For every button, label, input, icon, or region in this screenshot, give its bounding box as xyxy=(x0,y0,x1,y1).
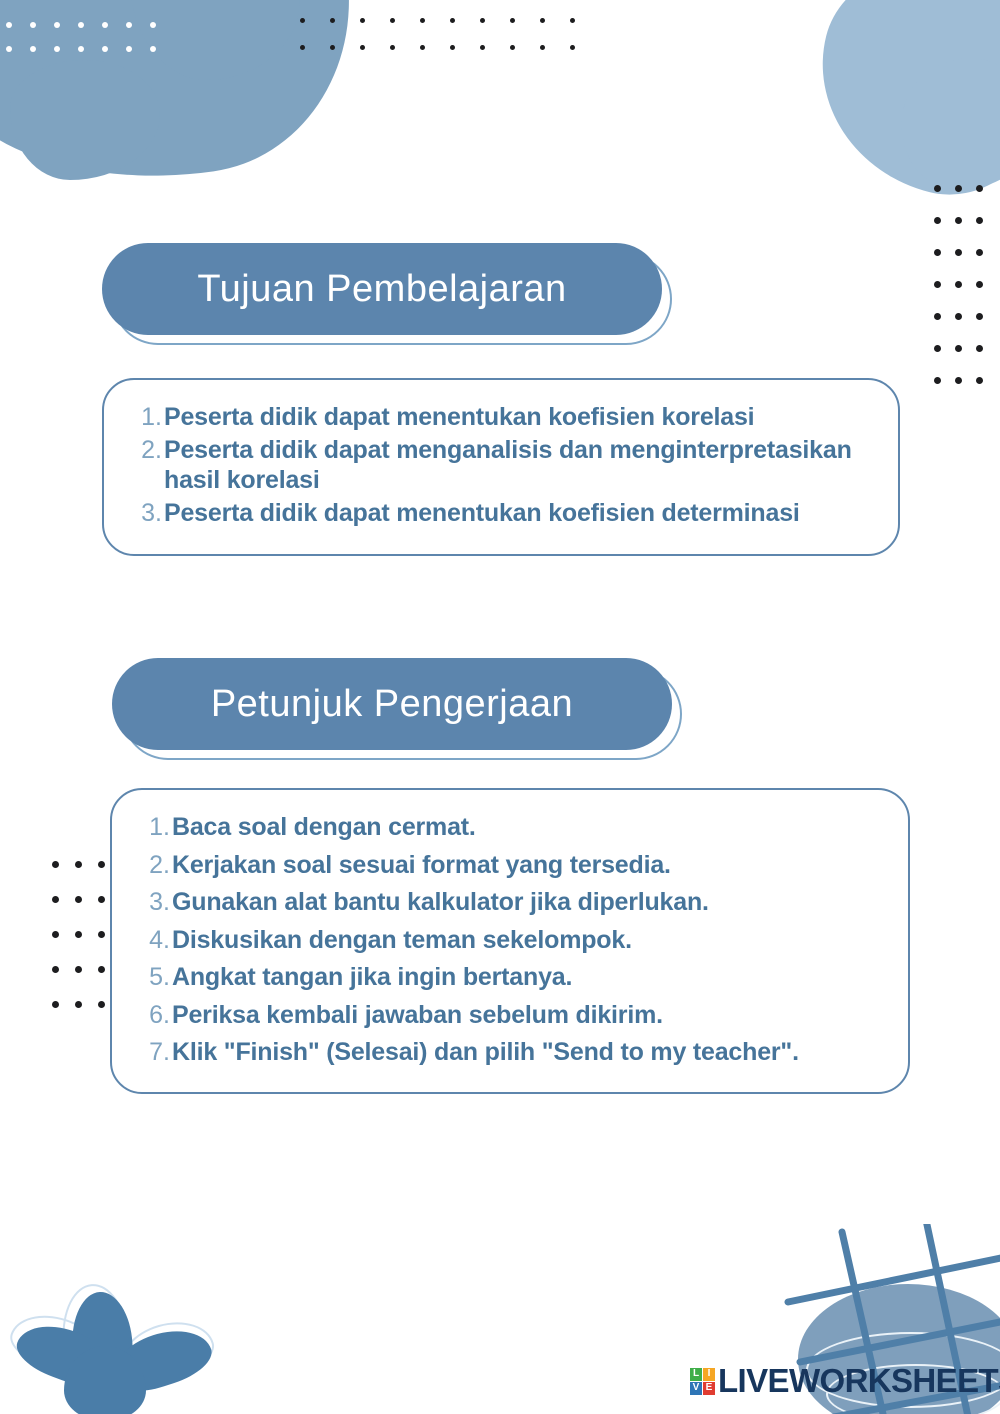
dot xyxy=(390,45,395,50)
dot xyxy=(75,966,82,973)
dot xyxy=(934,281,941,288)
list-item-label: Angkat tangan jika ingin bertanya. xyxy=(172,962,572,993)
dot xyxy=(102,46,108,52)
dot xyxy=(126,46,132,52)
dot xyxy=(570,18,575,23)
blob-top-right-icon xyxy=(796,0,1000,214)
blob-top-left-tertiary-icon xyxy=(10,60,160,180)
dot xyxy=(98,931,105,938)
list-item-label: Klik "Finish" (Selesai) dan pilih "Send … xyxy=(172,1037,799,1068)
list-item-label: Peserta didik dapat menganalisis dan men… xyxy=(164,435,868,496)
list-item-label: Gunakan alat bantu kalkulator jika diper… xyxy=(172,887,709,918)
dot xyxy=(52,966,59,973)
list-item: 2. Peserta didik dapat menganalisis dan … xyxy=(134,435,868,496)
dot xyxy=(934,185,941,192)
dot xyxy=(510,18,515,23)
list-item: 3. Peserta didik dapat menentukan koefis… xyxy=(134,498,868,529)
dot xyxy=(360,45,365,50)
list-item: 1. Peserta didik dapat menentukan koefis… xyxy=(134,402,868,433)
logo-tile-l: L xyxy=(690,1368,702,1381)
dot xyxy=(6,46,12,52)
list-item: 2. Kerjakan soal sesuai format yang ters… xyxy=(142,850,878,881)
logo-wordmark: LIVEWORKSHEETS xyxy=(718,1362,1000,1400)
dot xyxy=(52,896,59,903)
dot xyxy=(54,22,60,28)
dot xyxy=(75,1001,82,1008)
flower-decoration-icon xyxy=(14,1290,244,1414)
list-item-label: Diskusikan dengan teman sekelompok. xyxy=(172,925,632,956)
dot xyxy=(976,377,983,384)
dot xyxy=(934,345,941,352)
worksheet-page: Tujuan Pembelajaran 1. Peserta didik dap… xyxy=(0,0,1000,1414)
dot xyxy=(976,345,983,352)
dot xyxy=(955,345,962,352)
dot-grid-top-center xyxy=(300,18,600,72)
list-item: 5. Angkat tangan jika ingin bertanya. xyxy=(142,962,878,993)
dot-grid-right xyxy=(934,185,997,409)
dot xyxy=(976,281,983,288)
dot xyxy=(52,861,59,868)
instructions-pill: Petunjuk Pengerjaan xyxy=(112,658,672,750)
dot xyxy=(98,861,105,868)
list-item: 1. Baca soal dengan cermat. xyxy=(142,812,878,843)
dot xyxy=(126,22,132,28)
dot xyxy=(52,931,59,938)
instructions-heading-block: Petunjuk Pengerjaan xyxy=(112,658,672,750)
dot xyxy=(934,217,941,224)
dot xyxy=(934,377,941,384)
objectives-heading-label: Tujuan Pembelajaran xyxy=(197,268,566,311)
dot xyxy=(102,22,108,28)
dot xyxy=(98,966,105,973)
dot xyxy=(976,249,983,256)
list-item: 4. Diskusikan dengan teman sekelompok. xyxy=(142,925,878,956)
dot xyxy=(976,313,983,320)
dot xyxy=(75,896,82,903)
list-item-number: 3. xyxy=(142,887,172,918)
dot xyxy=(360,18,365,23)
dot xyxy=(390,18,395,23)
dot xyxy=(150,22,156,28)
list-item-number: 7. xyxy=(142,1037,172,1068)
dot xyxy=(420,18,425,23)
dot xyxy=(976,217,983,224)
dot xyxy=(450,18,455,23)
dot xyxy=(52,1001,59,1008)
dot xyxy=(330,18,335,23)
dot xyxy=(54,46,60,52)
logo-tile-i: I xyxy=(703,1368,715,1381)
dot xyxy=(450,45,455,50)
list-item-number: 1. xyxy=(142,812,172,843)
dot xyxy=(955,249,962,256)
list-item-number: 2. xyxy=(134,435,164,466)
dot xyxy=(955,217,962,224)
dot xyxy=(75,931,82,938)
dot xyxy=(78,46,84,52)
dot xyxy=(75,861,82,868)
objectives-list-box: 1. Peserta didik dapat menentukan koefis… xyxy=(102,378,900,556)
list-item-number: 5. xyxy=(142,962,172,993)
dot xyxy=(98,896,105,903)
list-item-number: 4. xyxy=(142,925,172,956)
dot xyxy=(300,18,305,23)
dot xyxy=(955,313,962,320)
dot xyxy=(955,377,962,384)
dot xyxy=(955,281,962,288)
list-item-number: 1. xyxy=(134,402,164,433)
list-item-number: 6. xyxy=(142,1000,172,1031)
objectives-heading-block: Tujuan Pembelajaran xyxy=(102,243,662,335)
list-item-label: Kerjakan soal sesuai format yang tersedi… xyxy=(172,850,671,881)
list-item-number: 3. xyxy=(134,498,164,529)
dot xyxy=(78,22,84,28)
dot xyxy=(480,45,485,50)
dot xyxy=(540,18,545,23)
dot xyxy=(6,22,12,28)
list-item: 3. Gunakan alat bantu kalkulator jika di… xyxy=(142,887,878,918)
dot xyxy=(30,46,36,52)
logo-tile-e: E xyxy=(703,1382,715,1395)
dot xyxy=(934,313,941,320)
dot xyxy=(540,45,545,50)
dot xyxy=(30,22,36,28)
list-item-label: Periksa kembali jawaban sebelum dikirim. xyxy=(172,1000,663,1031)
list-item: 7. Klik "Finish" (Selesai) dan pilih "Se… xyxy=(142,1037,878,1068)
dot xyxy=(570,45,575,50)
dot xyxy=(300,45,305,50)
instructions-list-box: 1. Baca soal dengan cermat. 2. Kerjakan … xyxy=(110,788,910,1094)
dot xyxy=(98,1001,105,1008)
list-item: 6. Periksa kembali jawaban sebelum dikir… xyxy=(142,1000,878,1031)
dot-grid-top-left xyxy=(6,22,174,70)
list-item-label: Baca soal dengan cermat. xyxy=(172,812,476,843)
logo-tiles-icon: L I V E xyxy=(690,1368,715,1395)
list-item-label: Peserta didik dapat menentukan koefisien… xyxy=(164,498,800,529)
dot xyxy=(955,185,962,192)
dot xyxy=(480,18,485,23)
objectives-pill: Tujuan Pembelajaran xyxy=(102,243,662,335)
logo-tile-v: V xyxy=(690,1382,702,1395)
liveworksheets-logo: L I V E LIVEWORKSHEETS xyxy=(690,1362,1000,1400)
dot xyxy=(330,45,335,50)
dot xyxy=(420,45,425,50)
list-item-number: 2. xyxy=(142,850,172,881)
dot xyxy=(976,185,983,192)
list-item-label: Peserta didik dapat menentukan koefisien… xyxy=(164,402,754,433)
dot xyxy=(510,45,515,50)
instructions-heading-label: Petunjuk Pengerjaan xyxy=(211,683,573,726)
dot xyxy=(150,46,156,52)
dot xyxy=(934,249,941,256)
